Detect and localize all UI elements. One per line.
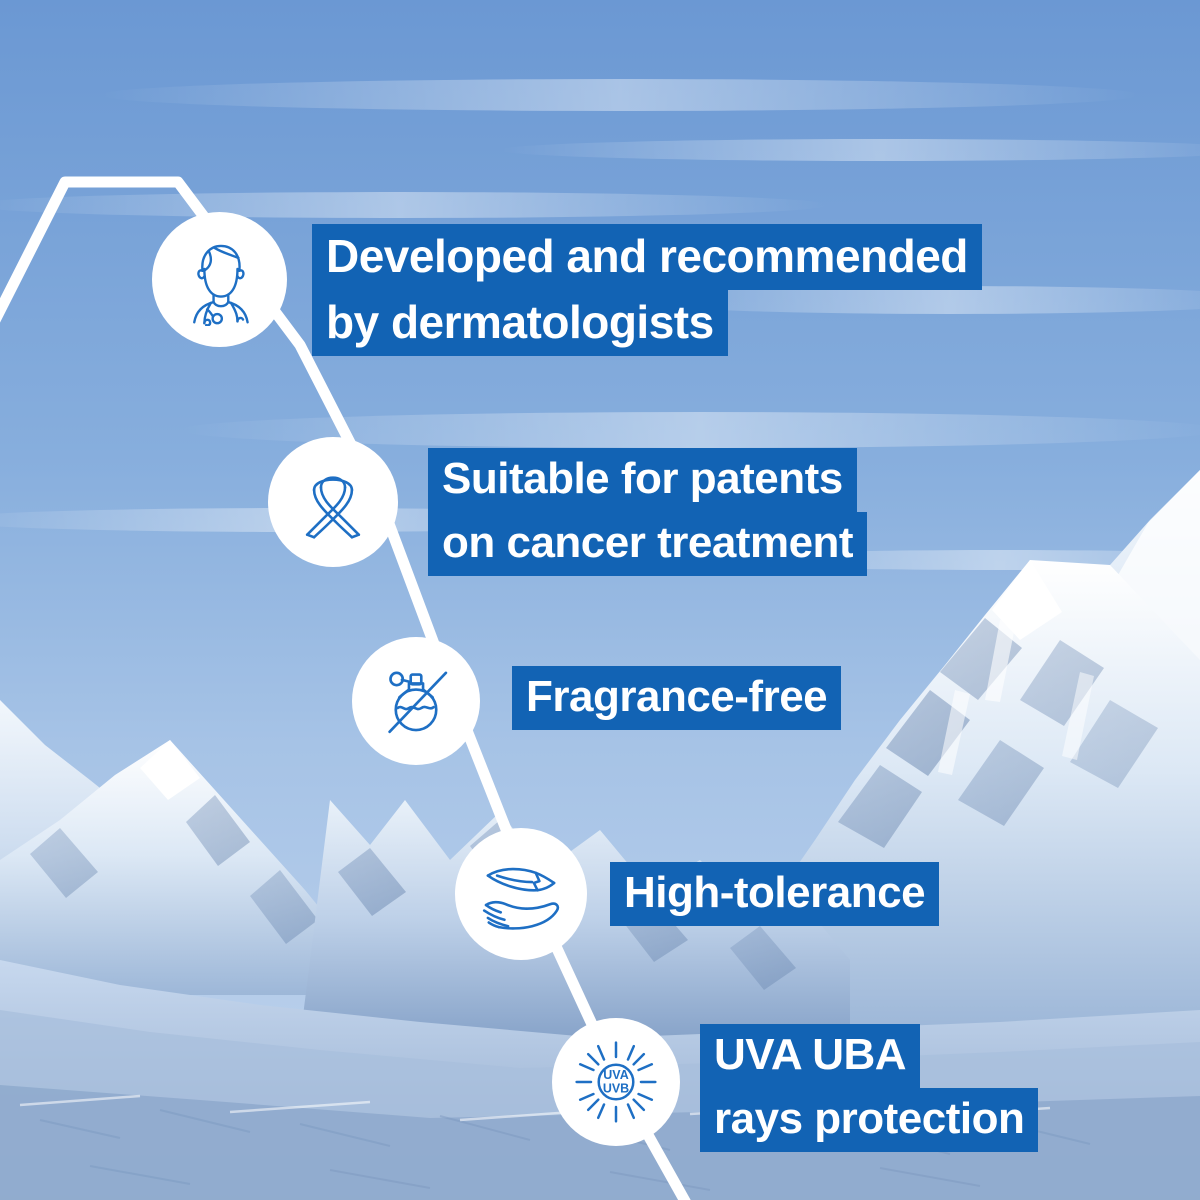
feature-banner-fragrance-free: Fragrance-free: [512, 666, 841, 730]
feather-on-hand-icon: [475, 848, 567, 940]
banner-line: by dermatologists: [312, 290, 728, 356]
uv-sun-icon: UVA UVB: [568, 1034, 664, 1130]
doctor-icon: [174, 234, 266, 326]
feature-icon-fragrance-free: [352, 637, 480, 765]
awareness-ribbon-icon: [290, 459, 376, 545]
uv-icon-label-uva: UVA: [603, 1068, 628, 1082]
feature-icon-cancer-treatment: [268, 437, 398, 567]
feature-banner-high-tolerance: High-tolerance: [610, 862, 939, 926]
infographic-canvas: Developed and recommended by dermatologi…: [0, 0, 1200, 1200]
feature-icon-uv-protection: UVA UVB: [552, 1018, 680, 1146]
banner-line: Developed and recommended: [312, 224, 982, 290]
feature-banner-uv-protection: UVA UBA rays protection: [700, 1024, 1038, 1152]
banner-line: Suitable for patents: [428, 448, 857, 512]
feature-icon-high-tolerance: [455, 828, 587, 960]
feature-banner-dermatologists: Developed and recommended by dermatologi…: [312, 224, 982, 356]
banner-line: High-tolerance: [610, 862, 939, 926]
banner-line: UVA UBA: [700, 1024, 920, 1088]
feature-banner-cancer-treatment: Suitable for patents on cancer treatment: [428, 448, 867, 576]
banner-line: Fragrance-free: [512, 666, 841, 730]
banner-line: on cancer treatment: [428, 512, 867, 576]
no-fragrance-icon: [372, 657, 460, 745]
uv-icon-label-uvb: UVB: [603, 1082, 629, 1096]
feature-icon-dermatologists: [152, 212, 287, 347]
banner-line: rays protection: [700, 1088, 1038, 1152]
